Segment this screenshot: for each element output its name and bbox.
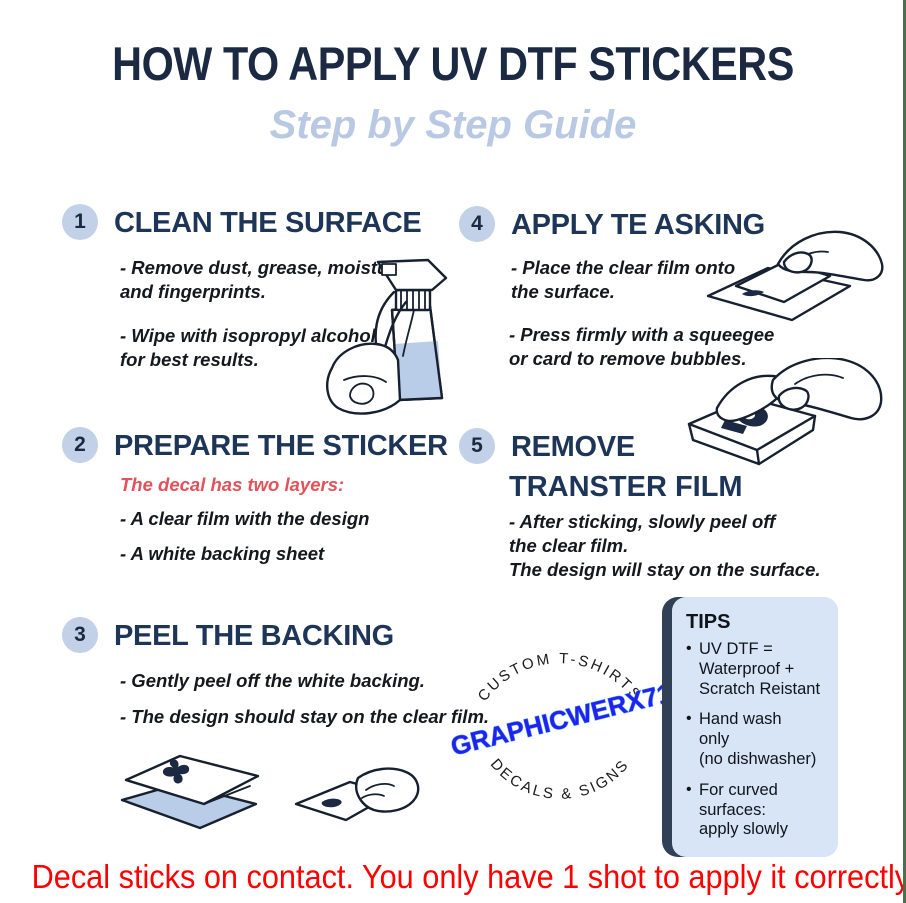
step-4-number: 4 — [459, 206, 495, 242]
peeling-backing-sheets-illustration — [100, 742, 430, 862]
step-2-note: The decal has two layers: — [120, 473, 470, 497]
tips-item: For curved surfaces: apply slowly — [686, 781, 828, 840]
watermark-arc-bottom-text: DECALS & SIGNS — [487, 756, 633, 803]
step-5-line-2: The design will stay on the surface. — [509, 558, 839, 582]
step-3-line-2: - The design should stay on the clear fi… — [120, 705, 520, 729]
tips-item: Hand wash only (no dishwasher) — [686, 710, 828, 769]
tips-box: TIPS UV DTF = Waterproof + Scratch Reist… — [662, 597, 838, 857]
step-2-line-2: - A white backing sheet — [120, 542, 470, 566]
step-3-line-1: - Gently peel off the white backing. — [120, 669, 520, 693]
page-subtitle: Step by Step Guide — [0, 103, 906, 148]
step-2-number: 2 — [62, 427, 98, 463]
tips-list: UV DTF = Waterproof + Scratch Reistant H… — [686, 640, 828, 840]
tips-box-panel: TIPS UV DTF = Waterproof + Scratch Reist… — [672, 597, 838, 857]
step-2-line-1: - A clear film with the design — [120, 507, 470, 531]
infographic-page: HOW TO APPLY UV DTF STICKERS Step by Ste… — [0, 0, 906, 903]
step-5-line-1: - After sticking, slowly peel off the cl… — [509, 510, 799, 559]
hand-removing-transfer-film-illustration — [655, 358, 905, 488]
tips-title: TIPS — [686, 611, 828, 634]
hand-holding-spray-bottle-illustration — [320, 248, 490, 438]
step-5-number: 5 — [459, 428, 495, 464]
step-1-header: 1 CLEAN THE SURFACE — [62, 204, 482, 244]
tips-item: UV DTF = Waterproof + Scratch Reistant — [686, 640, 828, 699]
step-2-heading: PREPARE THE STICKER — [114, 430, 448, 463]
step-3-header: 3 PEEL THE BACKING — [62, 617, 492, 657]
page-title: HOW TO APPLY UV DTF STICKERS — [54, 36, 851, 91]
step-5-heading: REMOVE — [511, 431, 635, 464]
step-3-heading: PEEL THE BACKING — [114, 620, 394, 653]
step-3-number: 3 — [62, 617, 98, 653]
step-2: 2 PREPARE THE STICKER The decal has two … — [62, 427, 482, 467]
step-1-heading: CLEAN THE SURFACE — [114, 207, 421, 240]
step-1: 1 CLEAN THE SURFACE - Remove dust, greas… — [62, 204, 482, 244]
hand-applying-film-illustration — [700, 228, 890, 363]
bottom-warning-banner: Decal sticks on contact. You only have 1… — [32, 858, 872, 896]
step-2-header: 2 PREPARE THE STICKER — [62, 427, 482, 467]
step-1-number: 1 — [62, 204, 98, 240]
step-3: 3 PEEL THE BACKING - Gently peel off the… — [62, 617, 492, 657]
